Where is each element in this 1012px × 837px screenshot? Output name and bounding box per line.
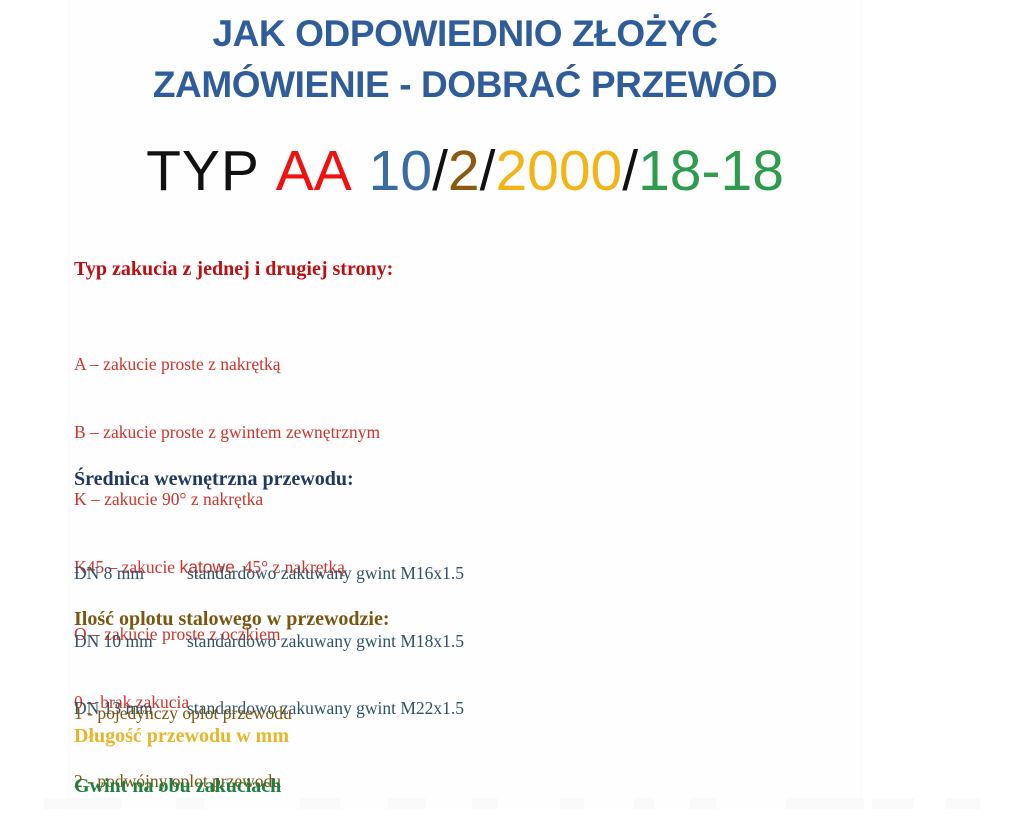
section-hose-length: Długość przewodu w mm	[74, 724, 289, 748]
section-crimp-type-heading: Typ zakucia z jednej i drugiej strony:	[74, 257, 393, 281]
code-crimp-type: AA	[276, 139, 352, 203]
code-prefix: TYP	[146, 139, 276, 203]
page-title: JAK ODPOWIEDNIO ZŁOŻYĆ ZAMÓWIENIE - DOBR…	[68, 8, 862, 110]
section-inner-diameter-heading: Średnica wewnętrzna przewodu:	[74, 467, 464, 491]
code-thread: 18-18	[638, 139, 784, 203]
section-braid-count-heading: Ilość oplotu stalowego w przewodzie:	[74, 607, 390, 631]
page-title-line-1: JAK ODPOWIEDNIO ZŁOŻYĆ	[68, 8, 862, 59]
code-slash-1: /	[432, 139, 448, 203]
code-length: 2000	[495, 139, 622, 203]
order-code-example: TYP AA 10/2/2000/18-18	[68, 136, 862, 206]
code-space	[352, 139, 369, 203]
code-slash-2: /	[480, 139, 496, 203]
code-slash-3: /	[622, 139, 638, 203]
code-inner-diameter: 10	[369, 139, 432, 203]
list-item: DN 8 mmstandardowo zakuwany gwint M16x1.…	[74, 562, 464, 585]
code-braid-count: 2	[448, 139, 480, 203]
cut-off-content-row	[0, 795, 1012, 811]
diameter-value: DN 8 mm	[74, 562, 187, 585]
diameter-note: standardowo zakuwany gwint M16x1.5	[187, 563, 464, 583]
section-hose-length-heading: Długość przewodu w mm	[74, 724, 289, 748]
list-item: 1 - pojedynczy oplot przewodu	[74, 702, 390, 725]
page-title-line-2: ZAMÓWIENIE - DOBRAĆ PRZEWÓD	[68, 59, 862, 110]
list-item: B – zakucie proste z gwintem zewnętrznym	[74, 421, 393, 444]
list-item: A – zakucie proste z nakrętką	[74, 353, 393, 376]
